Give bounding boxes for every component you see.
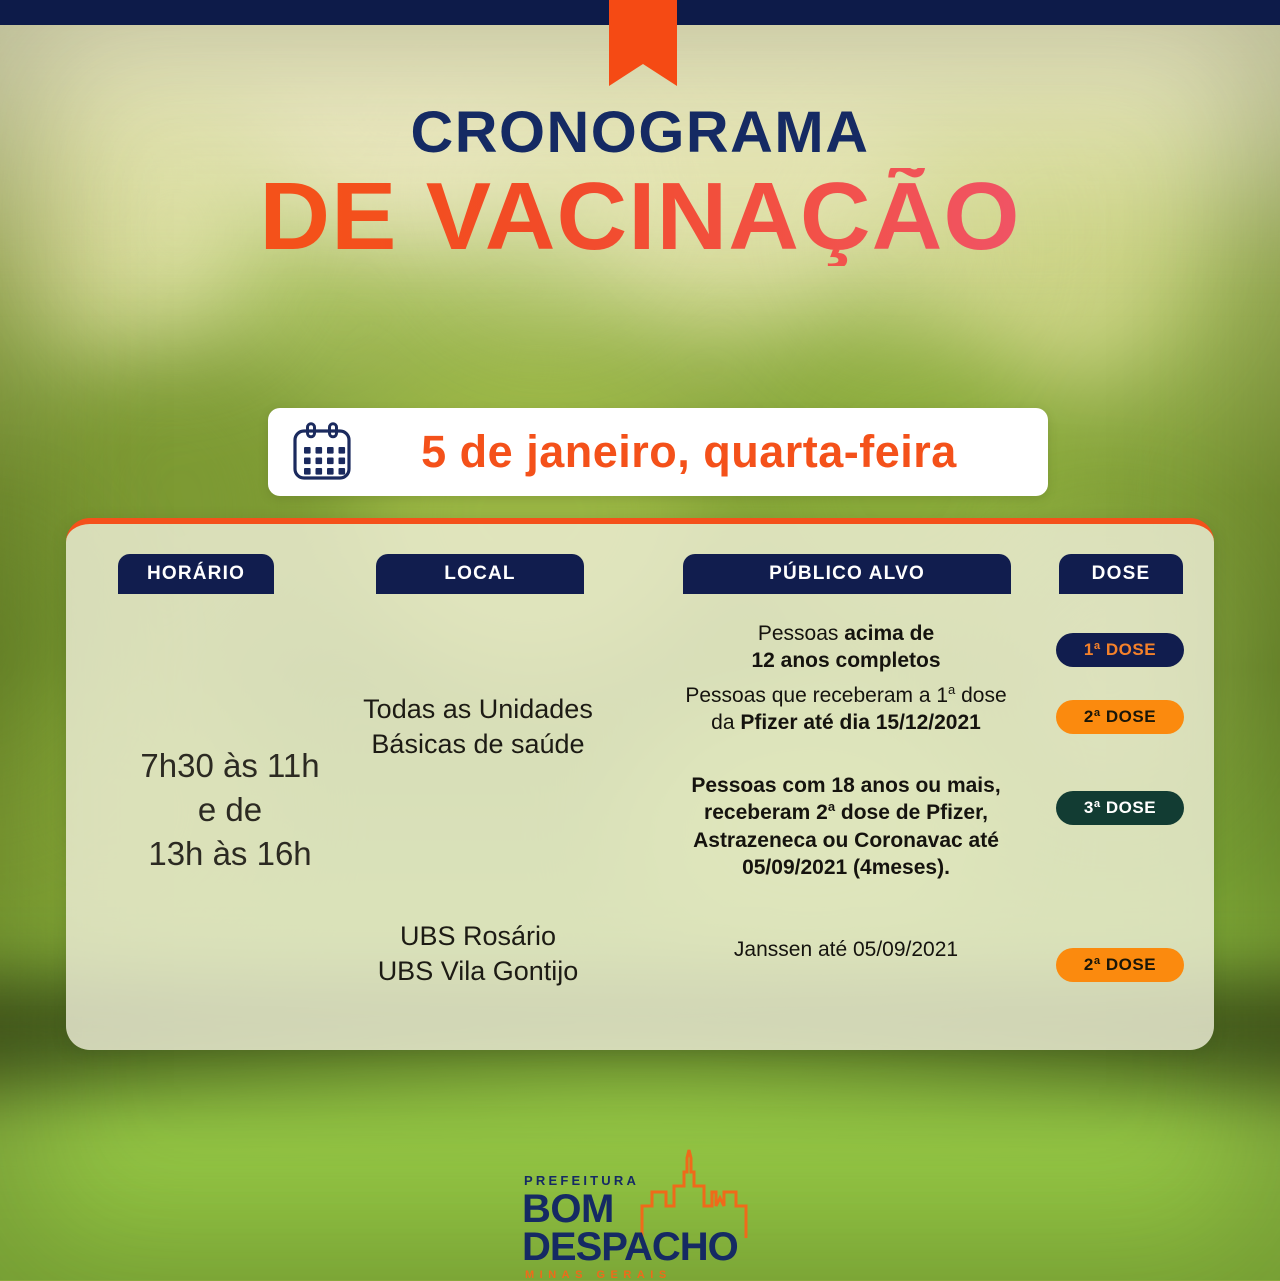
bookmark-ribbon-icon	[609, 0, 677, 86]
local-2-line-1: UBS Rosário	[288, 919, 668, 954]
date-text: 5 de janeiro, quarta-feira	[376, 426, 1048, 478]
publico-alvo-cell-2: Pessoas que receberam a 1a dose da Pfize…	[646, 682, 1046, 737]
publico-2-line-2: da Pfizer até dia 15/12/2021	[646, 709, 1046, 736]
local-2-line-2: UBS Vila Gontijo	[288, 954, 668, 989]
horario-line-3: 13h às 16h	[86, 832, 374, 876]
column-header-horario: HORÁRIO	[118, 554, 274, 594]
column-header-dose: DOSE	[1059, 554, 1183, 594]
logo-despacho: DESPACHO	[522, 1228, 722, 1266]
local-cell-1: Todas as Unidades Básicas de saúde	[288, 692, 668, 762]
column-header-publico-alvo: PÚBLICO ALVO	[683, 554, 1011, 594]
publico-1-line-1: Pessoas acima de	[646, 620, 1046, 647]
horario-line-2: e de	[86, 788, 374, 832]
title-line-2: DE VACINAÇÃO	[0, 168, 1280, 266]
title-line-1: CRONOGRAMA	[0, 104, 1280, 162]
page-title: CRONOGRAMA DE VACINAÇÃO	[0, 104, 1280, 266]
publico-alvo-cell-3: Pessoas com 18 anos ou mais, receberam 2…	[646, 772, 1046, 881]
local-1-line-1: Todas as Unidades	[288, 692, 668, 727]
publico-alvo-cell-1: Pessoas acima de 12 anos completos	[646, 620, 1046, 675]
schedule-card: HORÁRIO LOCAL PÚBLICO ALVO DOSE 7h30 às …	[66, 518, 1214, 1050]
local-cell-2: UBS Rosário UBS Vila Gontijo	[288, 919, 668, 989]
date-banner: 5 de janeiro, quarta-feira	[268, 408, 1048, 496]
publico-3-line-2: receberam 2a dose de Pfizer,	[646, 799, 1046, 826]
dose-badge-3: 3ª DOSE	[1056, 791, 1184, 825]
publico-3-line-3: Astrazeneca ou Coronavac até	[646, 827, 1046, 854]
publico-3-line-1: Pessoas com 18 anos ou mais,	[646, 772, 1046, 799]
logo-bom: BOM	[522, 1190, 722, 1228]
footer-logo: PREFEITURA BOM DESPACHO MINAS GERAIS	[0, 1148, 1280, 1266]
local-1-line-2: Básicas de saúde	[288, 727, 668, 762]
dose-badge-1: 1ª DOSE	[1056, 633, 1184, 667]
logo-estado: MINAS GERAIS	[522, 1270, 722, 1281]
dose-badge-4: 2ª DOSE	[1056, 948, 1184, 982]
dose-badge-2: 2ª DOSE	[1056, 700, 1184, 734]
horario-cell: 7h30 às 11h e de 13h às 16h	[86, 744, 374, 876]
logo-prefeitura: PREFEITURA	[522, 1174, 722, 1187]
publico-1-line-2: 12 anos completos	[646, 647, 1046, 674]
publico-2-line-1: Pessoas que receberam a 1a dose	[646, 682, 1046, 709]
publico-3-line-4: 05/09/2021 (4meses).	[646, 854, 1046, 881]
calendar-icon	[268, 422, 376, 482]
publico-alvo-cell-4: Janssen até 05/09/2021	[646, 936, 1046, 963]
column-header-local: LOCAL	[376, 554, 584, 594]
publico-1-bold-1: acima de	[844, 622, 934, 645]
